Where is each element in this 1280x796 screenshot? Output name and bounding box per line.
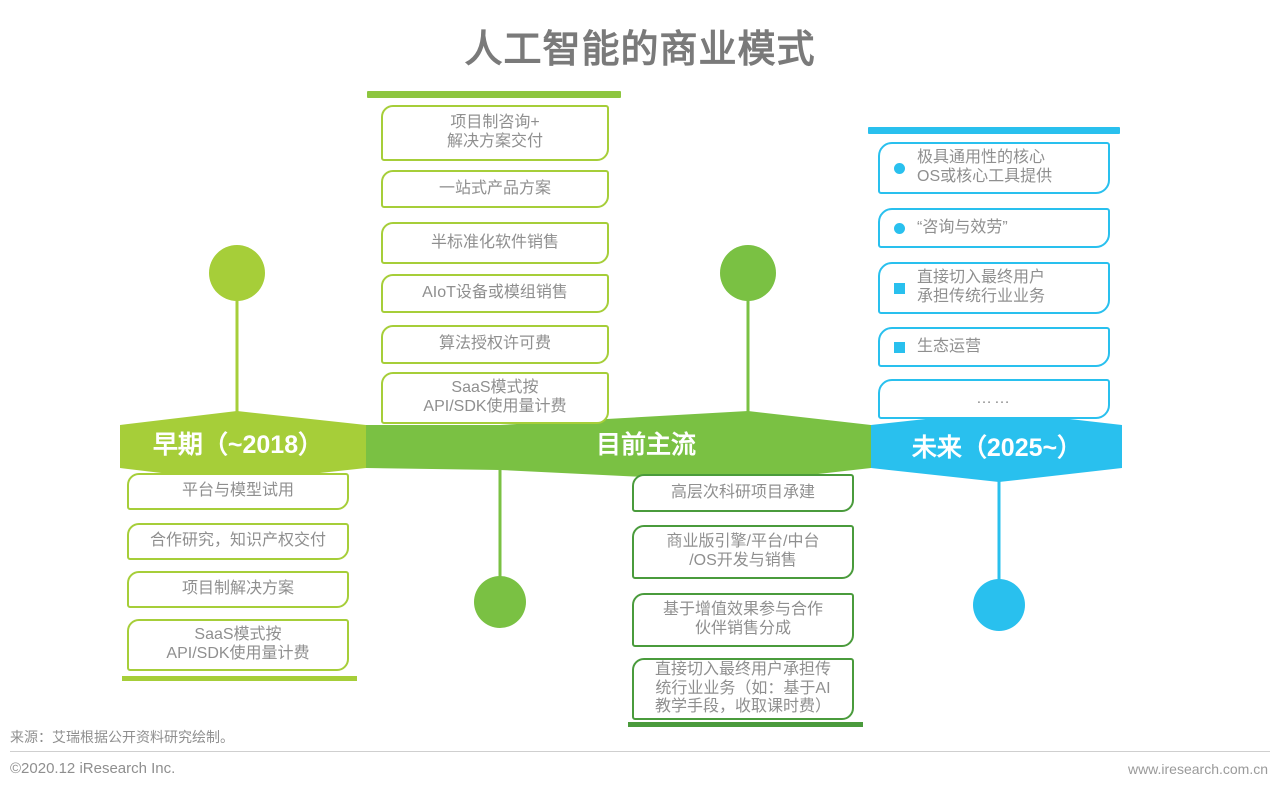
- infographic-canvas: 人工智能的商业模式 早期（~2018） 目前主流 未来（2025~） 项目制咨询…: [0, 0, 1280, 796]
- card-early-below-0[interactable]: 平台与模型试用: [127, 473, 349, 510]
- source-note: 来源：艾瑞根据公开资料研究绘制。: [10, 727, 234, 747]
- node-circle-current-top: [720, 245, 776, 301]
- card-current-below-0[interactable]: 高层次科研项目承建: [632, 474, 854, 512]
- card-current-above-1[interactable]: 一站式产品方案: [381, 170, 609, 208]
- card-text: 合作研究，知识产权交付: [150, 532, 326, 551]
- card-early-below-1[interactable]: 合作研究，知识产权交付: [127, 523, 349, 560]
- card-text: 极具通用性的核心 OS或核心工具提供: [917, 149, 1052, 187]
- card-text: ……: [976, 390, 1012, 409]
- card-early-below-2[interactable]: 项目制解决方案: [127, 571, 349, 608]
- card-future-above-0[interactable]: 极具通用性的核心 OS或核心工具提供: [878, 142, 1110, 194]
- card-text: 商业版引擎/平台/中台 /OS开发与销售: [667, 533, 820, 571]
- card-text: 基于增值效果参与合作 伙伴销售分成: [663, 601, 823, 639]
- website-url: www.iresearch.com.cn: [1128, 761, 1268, 777]
- card-text: “咨询与效劳”: [917, 219, 1008, 238]
- node-circle-early: [209, 245, 265, 301]
- bullet-dot-icon: [894, 163, 905, 174]
- card-text: 一站式产品方案: [439, 180, 551, 199]
- bullet-square-icon: [894, 342, 905, 353]
- card-future-above-2[interactable]: 直接切入最终用户 承担传统行业业务: [878, 262, 1110, 314]
- card-text: 半标准化软件销售: [431, 234, 559, 253]
- node-circle-current-bottom: [474, 576, 526, 628]
- card-text: 直接切入最终用户承担传 统行业业务（如：基于AI 教学手段，收取课时费）: [655, 661, 831, 718]
- card-current-above-4[interactable]: 算法授权许可费: [381, 325, 609, 364]
- card-future-above-1[interactable]: “咨询与效劳”: [878, 208, 1110, 248]
- divider-current-bottom: [628, 722, 863, 727]
- card-text: 直接切入最终用户 承担传统行业业务: [917, 269, 1045, 307]
- accent-bar-current-top: [367, 91, 621, 98]
- card-future-above-4[interactable]: ……: [878, 379, 1110, 419]
- banner-label-early: 早期（~2018）: [153, 430, 323, 459]
- card-text: 生态运营: [917, 338, 981, 357]
- divider-early-bottom: [122, 676, 357, 681]
- card-current-below-3[interactable]: 直接切入最终用户承担传 统行业业务（如：基于AI 教学手段，收取课时费）: [632, 658, 854, 720]
- card-text: 平台与模型试用: [182, 482, 294, 501]
- card-text: 项目制解决方案: [182, 580, 294, 599]
- card-current-above-5[interactable]: SaaS模式按 API/SDK使用量计费: [381, 372, 609, 424]
- card-current-below-1[interactable]: 商业版引擎/平台/中台 /OS开发与销售: [632, 525, 854, 579]
- card-early-below-3[interactable]: SaaS模式按 API/SDK使用量计费: [127, 619, 349, 671]
- card-text: 项目制咨询+ 解决方案交付: [447, 114, 543, 152]
- card-future-above-3[interactable]: 生态运营: [878, 327, 1110, 367]
- bullet-dot-icon: [894, 223, 905, 234]
- bullet-square-icon: [894, 283, 905, 294]
- card-current-above-2[interactable]: 半标准化软件销售: [381, 222, 609, 264]
- accent-bar-future-top: [868, 127, 1120, 134]
- card-text: AIoT设备或模组销售: [422, 284, 568, 303]
- banner-label-future: 未来（2025~）: [912, 433, 1082, 462]
- card-text: SaaS模式按 API/SDK使用量计费: [423, 379, 566, 417]
- node-circle-future: [973, 579, 1025, 631]
- banner-label-current: 目前主流: [596, 430, 696, 459]
- copyright-text: ©2020.12 iResearch Inc.: [10, 760, 175, 777]
- card-text: 算法授权许可费: [439, 335, 551, 354]
- card-current-below-2[interactable]: 基于增值效果参与合作 伙伴销售分成: [632, 593, 854, 647]
- card-text: SaaS模式按 API/SDK使用量计费: [166, 626, 309, 664]
- card-current-above-3[interactable]: AIoT设备或模组销售: [381, 274, 609, 313]
- card-text: 高层次科研项目承建: [671, 484, 815, 503]
- footer-divider: [10, 751, 1270, 752]
- card-current-above-0[interactable]: 项目制咨询+ 解决方案交付: [381, 105, 609, 161]
